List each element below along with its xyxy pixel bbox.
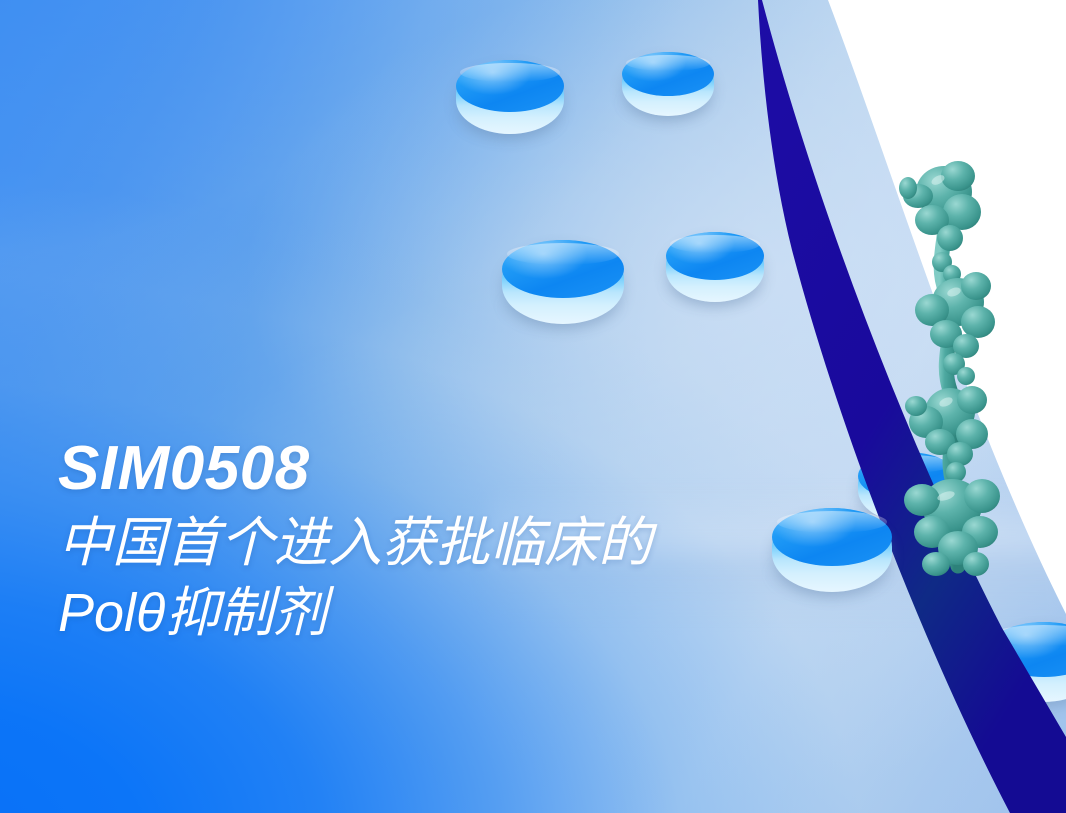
- product-code-title: SIM0508: [58, 436, 652, 502]
- tablet-top: [772, 508, 892, 566]
- subtitle-line-1: 中国首个进入获批临床的: [58, 508, 652, 578]
- subtitle-line-2: Polθ抑制剂: [58, 578, 652, 648]
- product-key-visual-slide: SIM0508 中国首个进入获批临床的 Polθ抑制剂: [0, 0, 1066, 813]
- headline-block: SIM0508 中国首个进入获批临床的 Polθ抑制剂: [58, 436, 652, 648]
- tablet-6: [772, 508, 892, 592]
- protein-chain: [899, 161, 1000, 576]
- protein-structure: [880, 150, 1060, 570]
